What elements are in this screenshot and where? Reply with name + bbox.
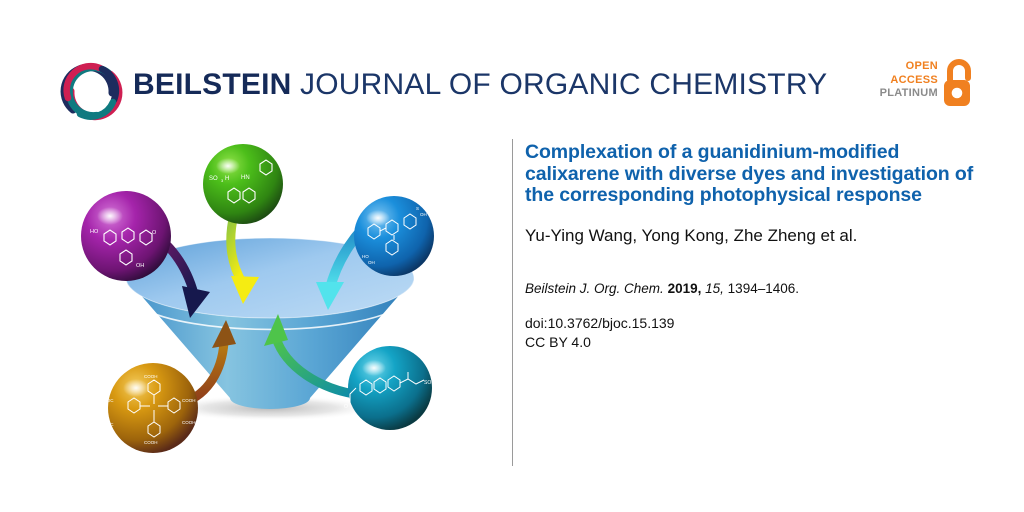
masthead-bold: BEILSTEIN [133, 68, 291, 101]
article-citation: Beilstein J. Org. Chem. 2019, 15, 1394–1… [525, 247, 975, 298]
svg-text:OH: OH [420, 212, 427, 217]
open-access-badge: OPEN ACCESS PLATINUM [884, 58, 980, 112]
doi-text[interactable]: doi:10.3762/bjoc.15.139 [525, 315, 674, 331]
column-divider [512, 139, 513, 466]
oa-line-access: ACCESS [880, 74, 938, 88]
svg-text:COOH: COOH [144, 374, 158, 379]
citation-volume: 15, [705, 281, 724, 296]
svg-text:COOH: COOH [182, 420, 196, 425]
article-title: Complexation of a guanidinium-modified c… [525, 142, 975, 207]
masthead-rest: JOURNAL OF ORGANIC CHEMISTRY [300, 68, 827, 101]
dye-sphere-cyan: SO3H O [344, 346, 440, 430]
citation-year: 2019, [668, 281, 702, 296]
svg-text:H: H [225, 176, 229, 182]
svg-text:3: 3 [433, 383, 435, 387]
oa-line-open: OPEN [880, 60, 938, 74]
svg-text:S: S [416, 206, 419, 211]
calixarene-host-guest-graphical-abstract: HOOOH SO3H HN [38, 136, 468, 476]
dye-sphere-purple: HOOOH [81, 191, 171, 281]
svg-text:HOOC: HOOC [100, 422, 114, 427]
journal-masthead: BEILSTEIN JOURNAL OF ORGANIC CHEMISTRY [133, 68, 827, 102]
article-doi-license: doi:10.3762/bjoc.15.139 CC BY 4.0 [525, 298, 975, 352]
open-lock-icon [940, 58, 980, 110]
svg-text:HN: HN [241, 175, 250, 181]
dye-sphere-blue: SOH HOOH [354, 196, 434, 276]
citation-journal: Beilstein J. Org. Chem. [525, 281, 664, 296]
citation-pages: 1394–1406. [728, 281, 799, 296]
svg-text:OH: OH [136, 263, 144, 269]
svg-text:O: O [344, 404, 348, 410]
dye-sphere-green: SO3H HN [203, 144, 283, 224]
svg-text:COOH: COOH [144, 440, 158, 445]
svg-text:SO: SO [209, 176, 218, 182]
svg-text:HO: HO [362, 254, 369, 259]
journal-header: BEILSTEIN JOURNAL OF ORGANIC CHEMISTRY O… [0, 0, 1024, 140]
svg-text:HOOC: HOOC [100, 398, 114, 403]
open-access-wordmark: OPEN ACCESS PLATINUM [880, 60, 938, 101]
svg-text:OH: OH [368, 260, 375, 265]
svg-text:SO: SO [424, 380, 431, 386]
svg-text:O: O [152, 230, 157, 236]
article-cover-page: BEILSTEIN JOURNAL OF ORGANIC CHEMISTRY O… [0, 0, 1024, 512]
article-metadata: Complexation of a guanidinium-modified c… [525, 142, 975, 352]
oa-line-platinum: PLATINUM [880, 87, 938, 101]
dye-sphere-orange: COOH HOOC COOH COOH HOOC COOH [100, 363, 198, 453]
article-authors: Yu-Ying Wang, Yong Kong, Zhe Zheng et al… [525, 207, 975, 247]
svg-text:COOH: COOH [182, 398, 196, 403]
license-text: CC BY 4.0 [525, 334, 591, 350]
svg-text:H: H [436, 380, 440, 386]
svg-text:HO: HO [90, 229, 99, 235]
beilstein-circle-logo-icon [56, 56, 126, 126]
